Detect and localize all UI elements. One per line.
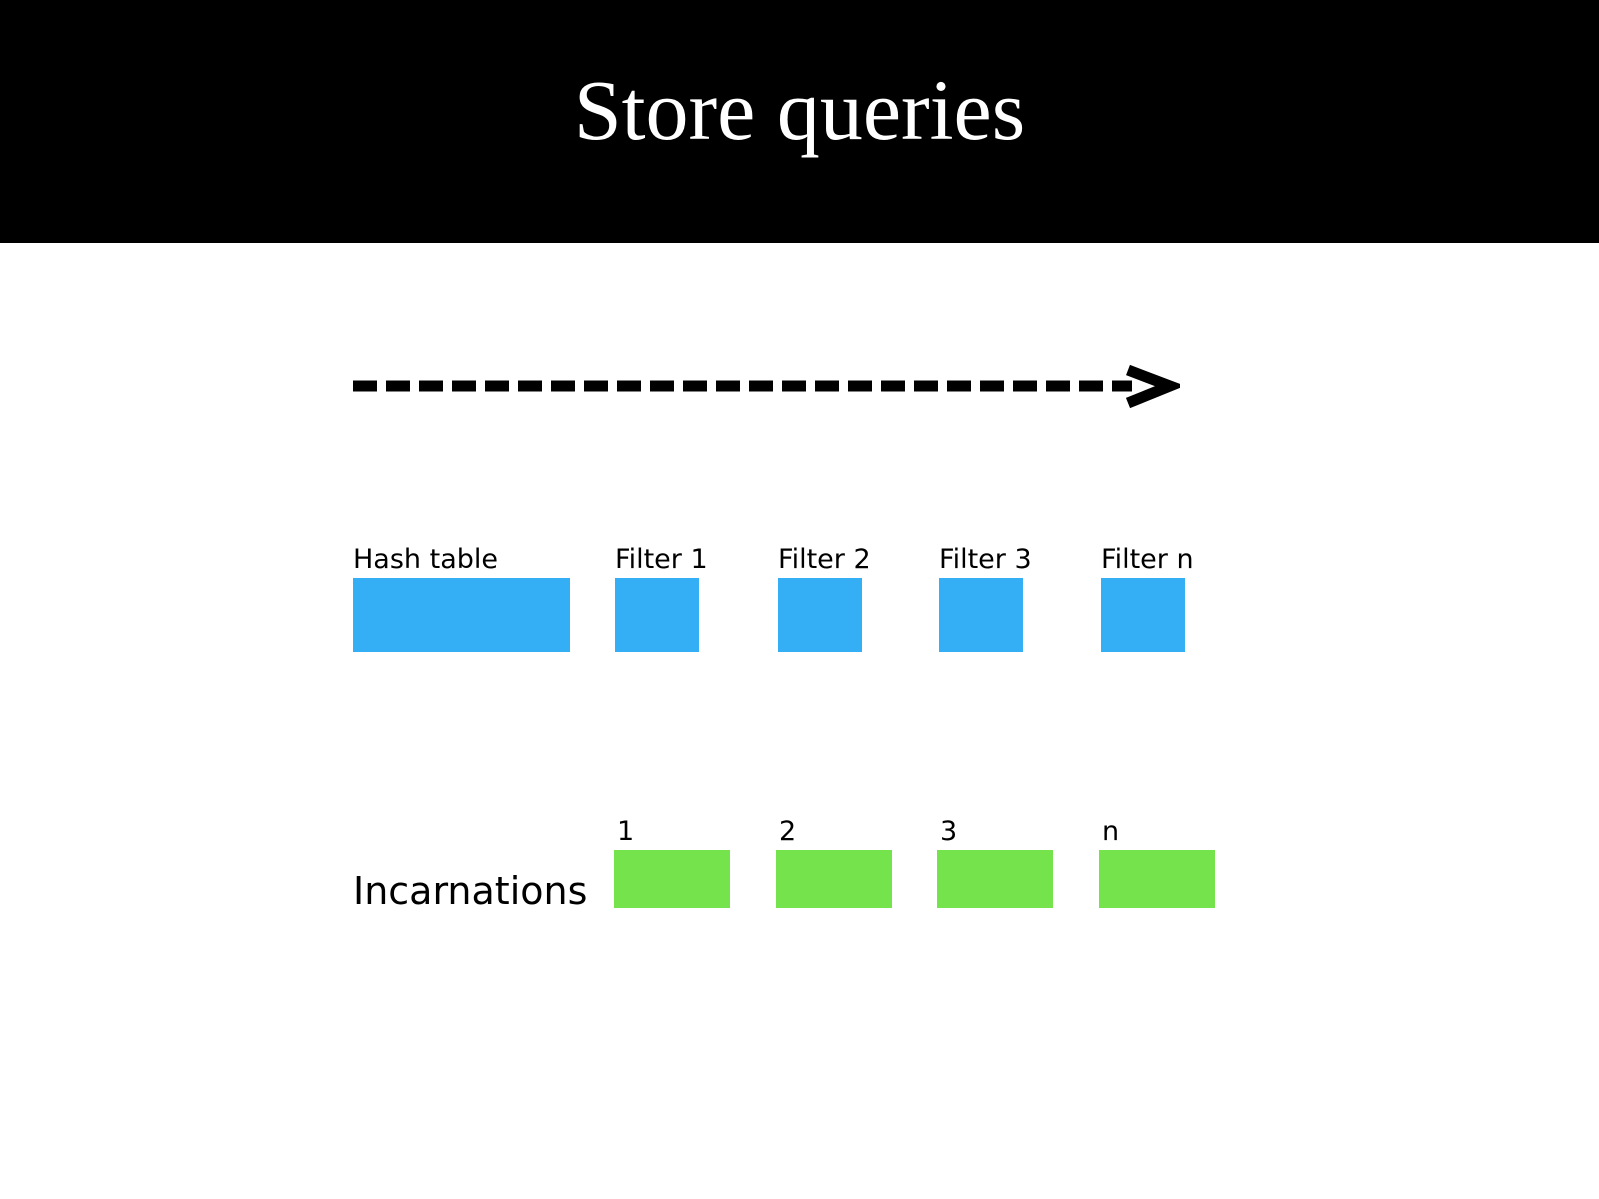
page-title: Store queries: [0, 0, 1599, 243]
block-incarnation-n[interactable]: [1099, 850, 1215, 908]
block-filter-1[interactable]: [615, 578, 699, 652]
block-incarnation-1[interactable]: [614, 850, 730, 908]
block-incarnation-3[interactable]: [937, 850, 1053, 908]
arrow-head-icon: [1128, 370, 1170, 403]
block-label-filter-2: Filter 2: [778, 546, 871, 573]
block-filter-2[interactable]: [778, 578, 862, 652]
block-hash-table[interactable]: [353, 578, 570, 652]
block-label-incarnation-2: 2: [779, 818, 796, 845]
block-label-filter-3: Filter 3: [939, 546, 1032, 573]
block-label-filter-1: Filter 1: [615, 546, 708, 573]
block-label-filter-n: Filter n: [1101, 546, 1194, 573]
block-incarnation-2[interactable]: [776, 850, 892, 908]
slide-canvas: Store queries Hash table Filter 1 Filter…: [0, 0, 1599, 1199]
block-label-incarnation-3: 3: [940, 818, 957, 845]
block-label-incarnation-n: n: [1102, 818, 1119, 845]
block-filter-n[interactable]: [1101, 578, 1185, 652]
time-flow-arrow: [350, 358, 1180, 414]
row-label-incarnations: Incarnations: [353, 872, 587, 910]
block-filter-3[interactable]: [939, 578, 1023, 652]
block-label-incarnation-1: 1: [617, 818, 634, 845]
block-label-hash-table: Hash table: [353, 546, 498, 573]
